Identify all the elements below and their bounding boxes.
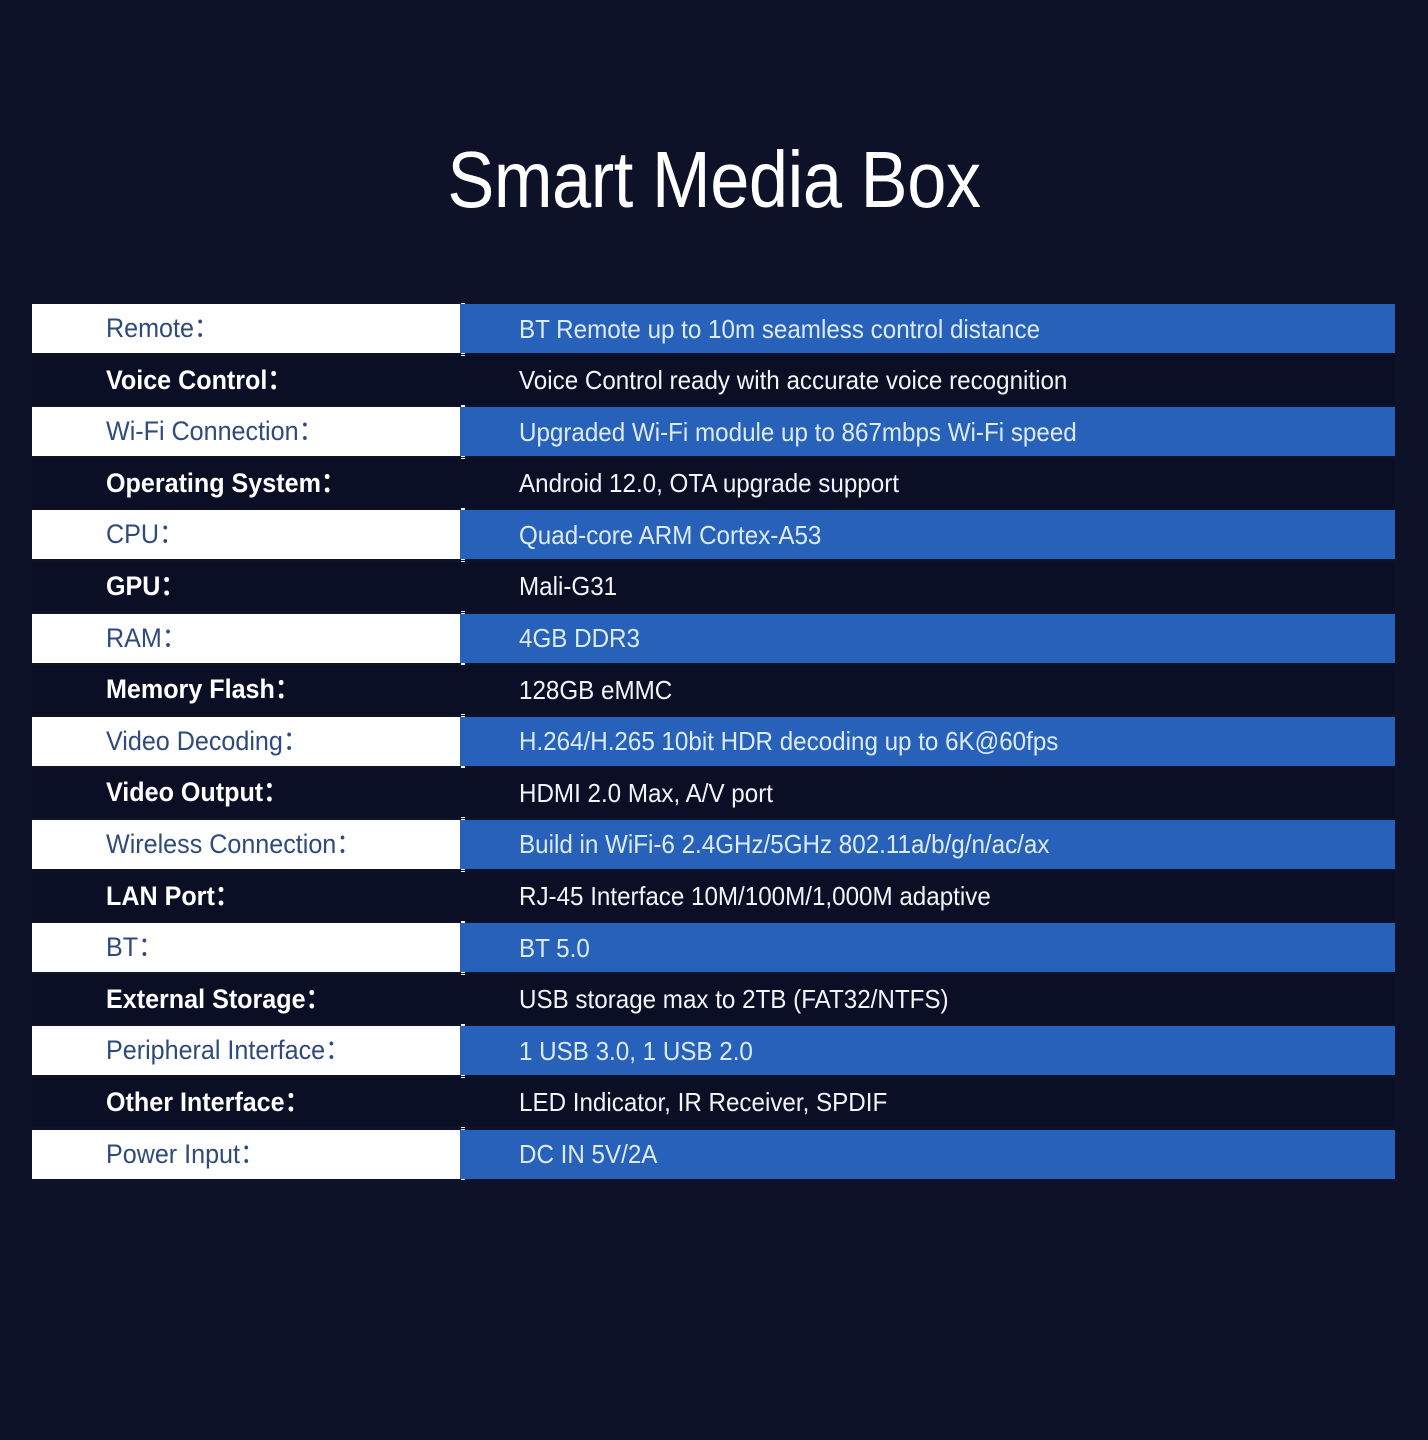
spec-value-text: LED Indicator, IR Receiver, SPDIF [519,1089,887,1115]
spec-label-cell: CPU： [32,510,460,559]
spec-value-cell: Quad-core ARM Cortex-A53 [460,510,1395,559]
spec-value-cell: HDMI 2.0 Max, A/V port [460,768,1395,817]
spec-value-cell: Voice Control ready with accurate voice … [460,356,1395,405]
spec-value-text: Voice Control ready with accurate voice … [519,367,1067,393]
spec-label-text: Video Decoding： [106,728,308,755]
spec-value-cell: RJ-45 Interface 10M/100M/1,000M adaptive [460,872,1395,921]
spec-label-cell: LAN Port： [32,872,460,921]
specification-table: Remote：BT Remote up to 10m seamless cont… [0,304,1428,1181]
spec-value-text: BT Remote up to 10m seamless control dis… [519,316,1040,342]
spec-row: Wireless Connection：Build in WiFi-6 2.4G… [0,820,1428,869]
spec-label-cell: Voice Control： [32,356,460,405]
spec-value-cell: USB storage max to 2TB (FAT32/NTFS) [460,975,1395,1024]
page-title: Smart Media Box [86,132,1343,228]
spec-label-cell: Peripheral Interface： [32,1026,460,1075]
spec-value-cell: Upgraded Wi-Fi module up to 867mbps Wi-F… [460,407,1395,456]
spec-label-text: CPU： [106,521,184,548]
spec-value-cell: DC IN 5V/2A [460,1130,1395,1179]
spec-value-text: Quad-core ARM Cortex-A53 [519,522,821,548]
spec-label-cell: Video Output： [32,768,460,817]
spec-row: Memory Flash：128GB eMMC [0,665,1428,714]
spec-value-text: 1 USB 3.0, 1 USB 2.0 [519,1038,753,1064]
spec-value-text: Upgraded Wi-Fi module up to 867mbps Wi-F… [519,419,1077,445]
spec-value-cell: BT Remote up to 10m seamless control dis… [460,304,1395,353]
spec-label-text: Memory Flash： [106,676,300,703]
spec-value-cell: BT 5.0 [460,923,1395,972]
spec-label-text: Wireless Connection： [106,831,361,858]
spec-row: CPU：Quad-core ARM Cortex-A53 [0,510,1428,559]
spec-value-cell: Android 12.0, OTA upgrade support [460,459,1395,508]
spec-value-text: Mali-G31 [519,573,617,599]
spec-value-text: BT 5.0 [519,935,590,961]
spec-label-text: LAN Port： [106,883,240,910]
spec-value-cell: LED Indicator, IR Receiver, SPDIF [460,1078,1395,1127]
spec-row: Operating System：Android 12.0, OTA upgra… [0,459,1428,508]
spec-row: BT：BT 5.0 [0,923,1428,972]
spec-value-cell: H.264/H.265 10bit HDR decoding up to 6K@… [460,717,1395,766]
spec-value-cell: Build in WiFi-6 2.4GHz/5GHz 802.11a/b/g/… [460,820,1395,869]
spec-value-cell: 4GB DDR3 [460,614,1395,663]
spec-label-text: Wi-Fi Connection： [106,418,324,445]
spec-value-text: H.264/H.265 10bit HDR decoding up to 6K@… [519,728,1058,754]
spec-row: GPU：Mali-G31 [0,562,1428,611]
spec-value-text: RJ-45 Interface 10M/100M/1,000M adaptive [519,883,991,909]
spec-label-cell: BT： [32,923,460,972]
spec-label-text: Peripheral Interface： [106,1037,350,1064]
spec-value-text: USB storage max to 2TB (FAT32/NTFS) [519,986,949,1012]
spec-value-cell: 128GB eMMC [460,665,1395,714]
spec-label-text: External Storage： [106,986,331,1013]
spec-label-text: RAM： [106,625,187,652]
spec-row: Video Decoding：H.264/H.265 10bit HDR dec… [0,717,1428,766]
spec-label-text: GPU： [106,573,186,600]
spec-label-cell: Video Decoding： [32,717,460,766]
spec-label-cell: Operating System： [32,459,460,508]
spec-label-text: BT： [106,934,163,961]
spec-value-text: Build in WiFi-6 2.4GHz/5GHz 802.11a/b/g/… [519,831,1049,857]
spec-value-text: 128GB eMMC [519,677,672,703]
spec-value-text: DC IN 5V/2A [519,1141,657,1167]
spec-value-cell: Mali-G31 [460,562,1395,611]
spec-label-cell: Power Input： [32,1130,460,1179]
spec-label-cell: Memory Flash： [32,665,460,714]
spec-label-cell: Remote： [32,304,460,353]
spec-value-text: HDMI 2.0 Max, A/V port [519,780,773,806]
spec-row: Video Output：HDMI 2.0 Max, A/V port [0,768,1428,817]
spec-value-text: Android 12.0, OTA upgrade support [519,470,899,496]
spec-label-text: Voice Control： [106,367,292,394]
spec-row: RAM：4GB DDR3 [0,614,1428,663]
spec-label-cell: Wi-Fi Connection： [32,407,460,456]
spec-label-cell: Other Interface： [32,1078,460,1127]
spec-label-text: Power Input： [106,1141,265,1168]
spec-label-text: Video Output： [106,779,288,806]
spec-row: Other Interface：LED Indicator, IR Receiv… [0,1078,1428,1127]
product-spec-page: Smart Media Box Remote：BT Remote up to 1… [0,0,1428,1440]
spec-label-cell: Wireless Connection： [32,820,460,869]
spec-row: Remote：BT Remote up to 10m seamless cont… [0,304,1428,353]
spec-row: Power Input：DC IN 5V/2A [0,1130,1428,1179]
spec-row: LAN Port：RJ-45 Interface 10M/100M/1,000M… [0,872,1428,921]
spec-label-text: Remote： [106,315,219,342]
spec-label-cell: RAM： [32,614,460,663]
spec-row: External Storage：USB storage max to 2TB … [0,975,1428,1024]
spec-row: Peripheral Interface：1 USB 3.0, 1 USB 2.… [0,1026,1428,1075]
spec-label-cell: GPU： [32,562,460,611]
spec-row: Voice Control：Voice Control ready with a… [0,356,1428,405]
spec-label-text: Other Interface： [106,1089,310,1116]
spec-value-cell: 1 USB 3.0, 1 USB 2.0 [460,1026,1395,1075]
spec-row: Wi-Fi Connection：Upgraded Wi-Fi module u… [0,407,1428,456]
spec-label-text: Operating System： [106,470,346,497]
spec-value-text: 4GB DDR3 [519,625,640,651]
spec-label-cell: External Storage： [32,975,460,1024]
